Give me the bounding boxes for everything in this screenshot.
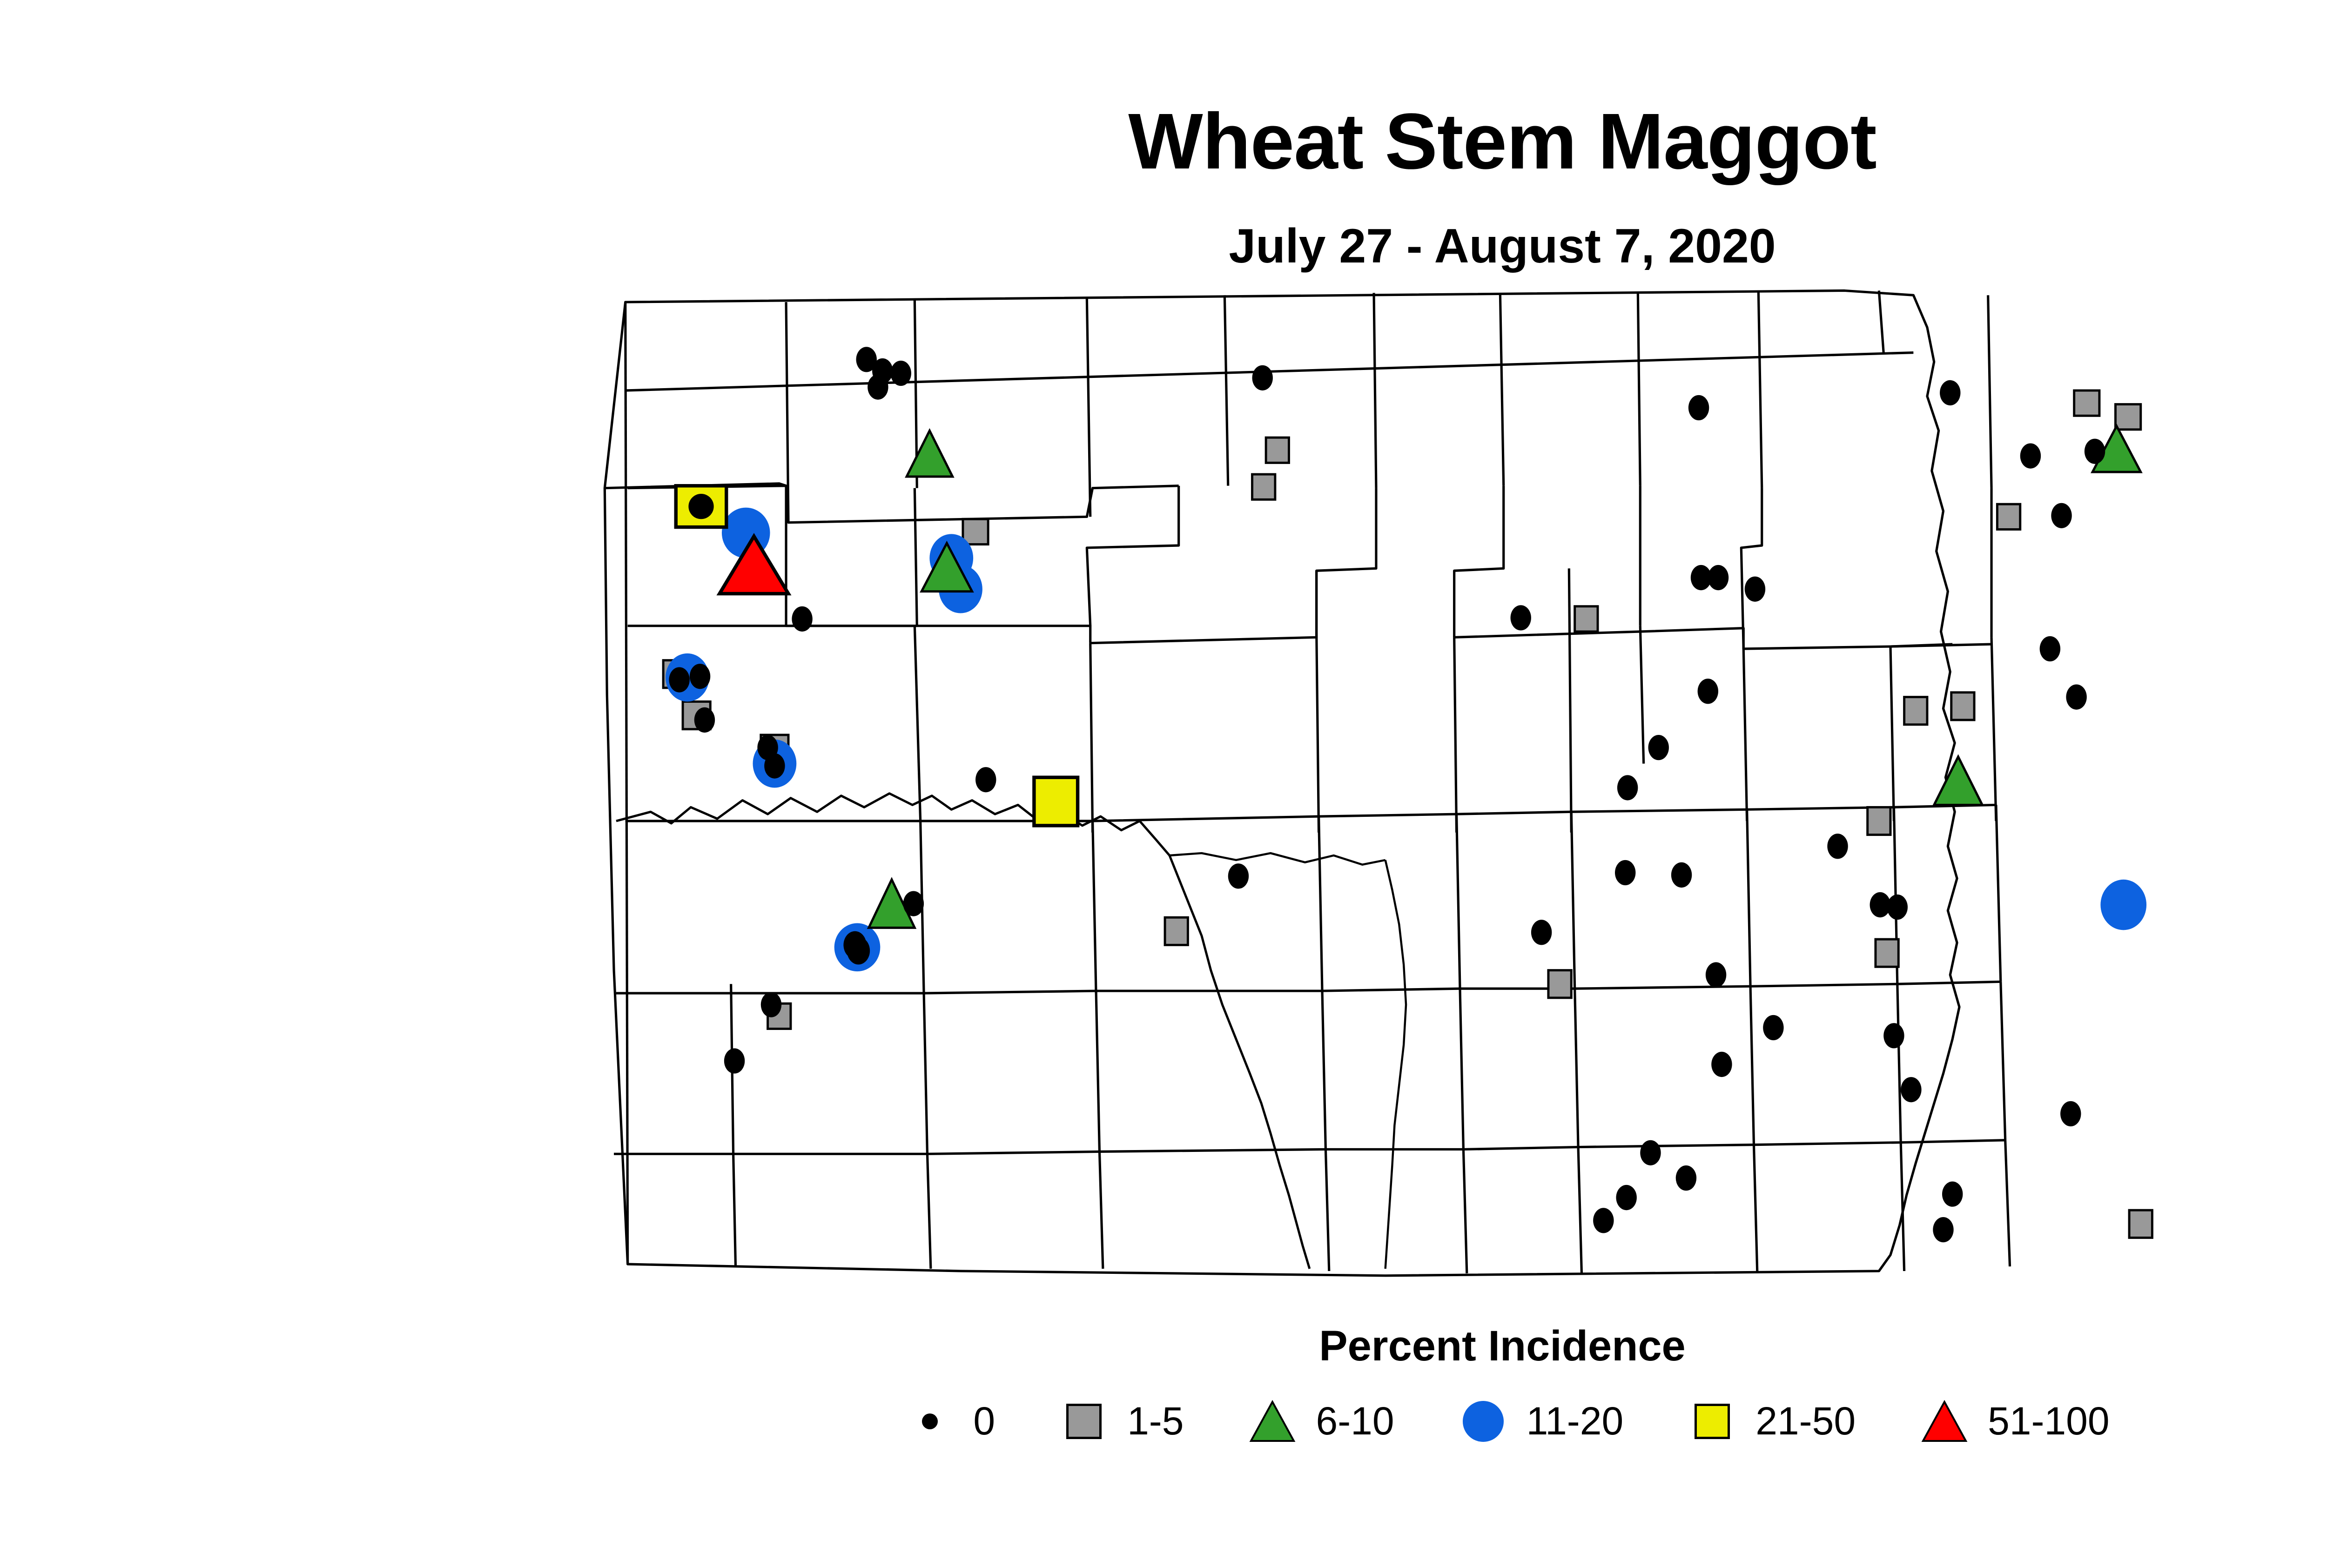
legend-label-0: 0 bbox=[973, 1399, 995, 1444]
green-triangle-icon bbox=[1237, 1399, 1307, 1444]
legend-label-11-20: 11-20 bbox=[1527, 1399, 1624, 1444]
map-figure: Wheat Stem Maggot July 27 - August 7, 20… bbox=[0, 0, 2327, 1568]
legend-label-21-50: 21-50 bbox=[1755, 1399, 1856, 1444]
legend-title: Percent Incidence bbox=[0, 1322, 2327, 1371]
legend-item-51-100[interactable]: 51-100 bbox=[1910, 1399, 2110, 1444]
dot-icon bbox=[895, 1413, 965, 1429]
page-subtitle: July 27 - August 7, 2020 bbox=[0, 219, 2327, 274]
yellow-square-icon bbox=[1677, 1404, 1747, 1439]
legend-label-51-100: 51-100 bbox=[1988, 1399, 2110, 1444]
legend-item-0[interactable]: 0 bbox=[895, 1399, 995, 1444]
north-dakota-map[interactable] bbox=[582, 279, 2304, 1294]
legend-item-21-50[interactable]: 21-50 bbox=[1677, 1399, 1856, 1444]
legend-item-11-20[interactable]: 11-20 bbox=[1448, 1399, 1624, 1444]
map-svg bbox=[582, 279, 2304, 1294]
legend-label-1-5: 1-5 bbox=[1127, 1399, 1184, 1444]
gray-square-icon bbox=[1049, 1404, 1119, 1439]
legend-label-6-10: 6-10 bbox=[1316, 1399, 1394, 1444]
blue-circle-icon bbox=[1448, 1401, 1518, 1442]
county-boundaries bbox=[605, 290, 2010, 1275]
legend-items: 0 1-5 6-10 11-20 bbox=[0, 1399, 2327, 1444]
legend-item-1-5[interactable]: 1-5 bbox=[1049, 1399, 1184, 1444]
page-title: Wheat Stem Maggot bbox=[0, 100, 2327, 183]
legend: Percent Incidence 0 1-5 6-10 bbox=[0, 1322, 2327, 1371]
red-triangle-icon bbox=[1910, 1399, 1979, 1444]
legend-item-6-10[interactable]: 6-10 bbox=[1237, 1399, 1394, 1444]
